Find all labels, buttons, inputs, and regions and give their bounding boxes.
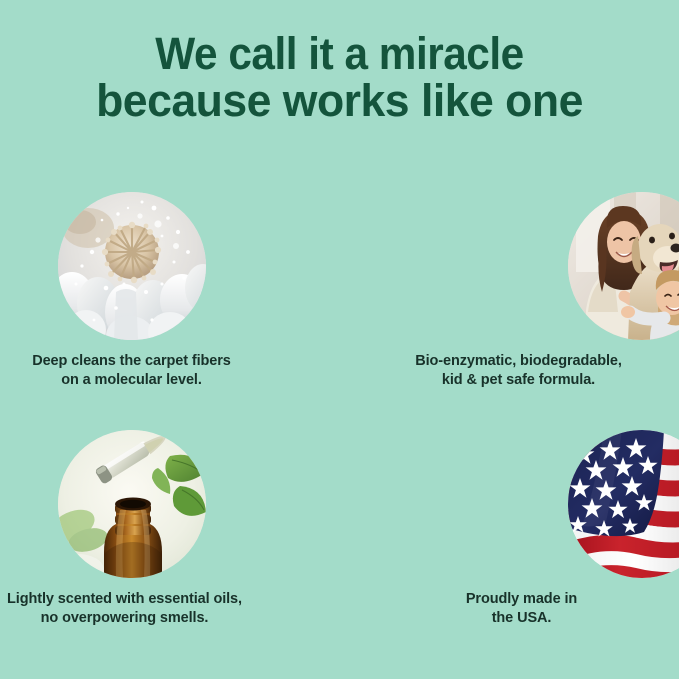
essential-oil-dropper-photo [58,430,206,578]
carpet-fibers-photo [58,192,206,340]
caption-line-1: Lightly scented with essential oils, [0,590,294,609]
caption-line-1: Bio-enzymatic, biodegradable, [349,352,679,371]
feature-item-safe-formula: Bio-enzymatic, biodegradable, kid & pet … [340,180,679,420]
feature-grid: Deep cleans the carpet fibers on a molec… [0,180,679,660]
feature-item-made-in-usa: Proudly made in the USA. [340,418,679,658]
feature-caption-essential-oils: Lightly scented with essential oils, no … [0,590,294,628]
usa-flag-photo [568,430,679,578]
caption-line-2: no overpowering smells. [0,609,294,628]
caption-line-2: kid & pet safe formula. [349,371,679,390]
feature-item-essential-oils: Lightly scented with essential oils, no … [0,418,339,658]
feature-caption-safe-formula: Bio-enzymatic, biodegradable, kid & pet … [349,352,679,390]
caption-line-2: the USA. [352,609,679,628]
caption-line-2: on a molecular level. [0,371,301,390]
caption-line-1: Proudly made in [352,590,679,609]
feature-item-deep-clean: Deep cleans the carpet fibers on a molec… [0,180,339,420]
feature-caption-made-in-usa: Proudly made in the USA. [352,590,679,628]
feature-caption-deep-clean: Deep cleans the carpet fibers on a molec… [0,352,301,390]
family-with-dog-photo [568,192,679,340]
caption-line-1: Deep cleans the carpet fibers [0,352,301,371]
page-title: We call it a miracle because works like … [0,30,679,124]
page-title-line-1: We call it a miracle [20,30,658,77]
page-title-line-2: because works like one [3,77,675,124]
